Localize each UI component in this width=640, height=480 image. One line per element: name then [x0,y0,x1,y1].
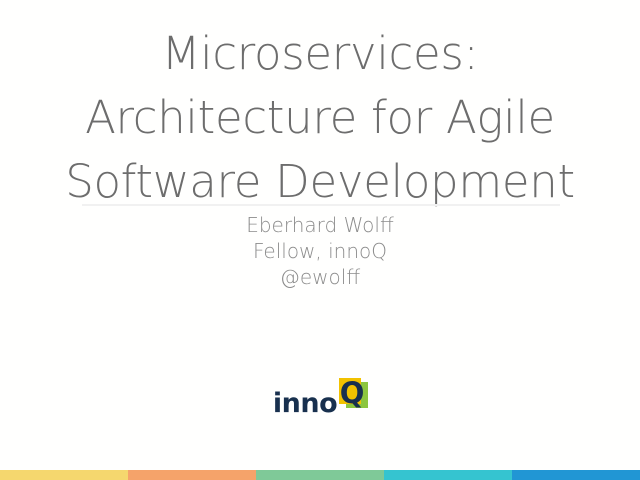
logo-q-mark: Q [337,378,367,412]
author-name: Eberhard Wolff [0,212,640,238]
subtitle: Eberhard Wolff Fellow, innoQ @ewolff [0,212,640,290]
title-line-1: Microservices: [0,22,640,86]
color-segment-blue [512,470,640,480]
author-handle: @ewolff [0,264,640,290]
logo-inner: inno Q [273,378,367,412]
logo-q-letter: Q [339,378,365,409]
page-title: Microservices: Architecture for Agile So… [0,22,640,214]
color-segment-orange [128,470,256,480]
title-line-2: Architecture for Agile [0,86,640,150]
innoq-logo: inno Q [0,378,640,412]
title-divider [82,204,560,206]
author-role: Fellow, innoQ [0,238,640,264]
color-segment-yellow [0,470,128,480]
presentation-title-slide: Microservices: Architecture for Agile So… [0,0,640,480]
color-segment-teal [384,470,512,480]
color-segment-green [256,470,384,480]
logo-wordmark: inno [273,387,337,421]
footer-color-bar [0,470,640,480]
